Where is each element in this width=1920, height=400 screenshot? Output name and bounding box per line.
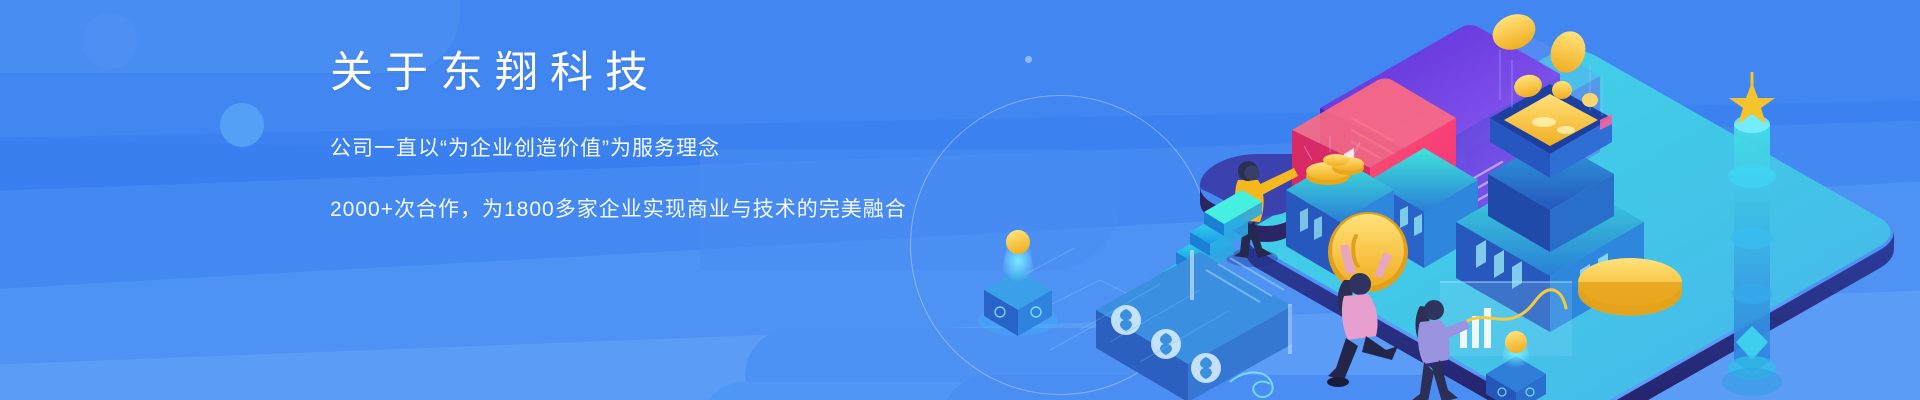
bg-circle-small [220,103,264,147]
hero-illustration [900,0,1920,400]
banner-subtitle-1: 公司一直以“为企业创造价值”为服务理念 [330,132,970,162]
bg-circle-large [82,13,138,69]
about-banner: 关于东翔科技 公司一直以“为企业创造价值”为服务理念 2000+次合作，为180… [0,0,1920,400]
coin-large-flat [1578,258,1682,316]
banner-copy: 关于东翔科技 公司一直以“为企业创造价值”为服务理念 2000+次合作，为180… [330,52,970,223]
coin-vault [978,227,1058,336]
banner-subtitle-2: 2000+次合作，为1800多家企业实现商业与技术的完美融合 [330,193,970,223]
page-title: 关于东翔科技 [330,52,970,95]
